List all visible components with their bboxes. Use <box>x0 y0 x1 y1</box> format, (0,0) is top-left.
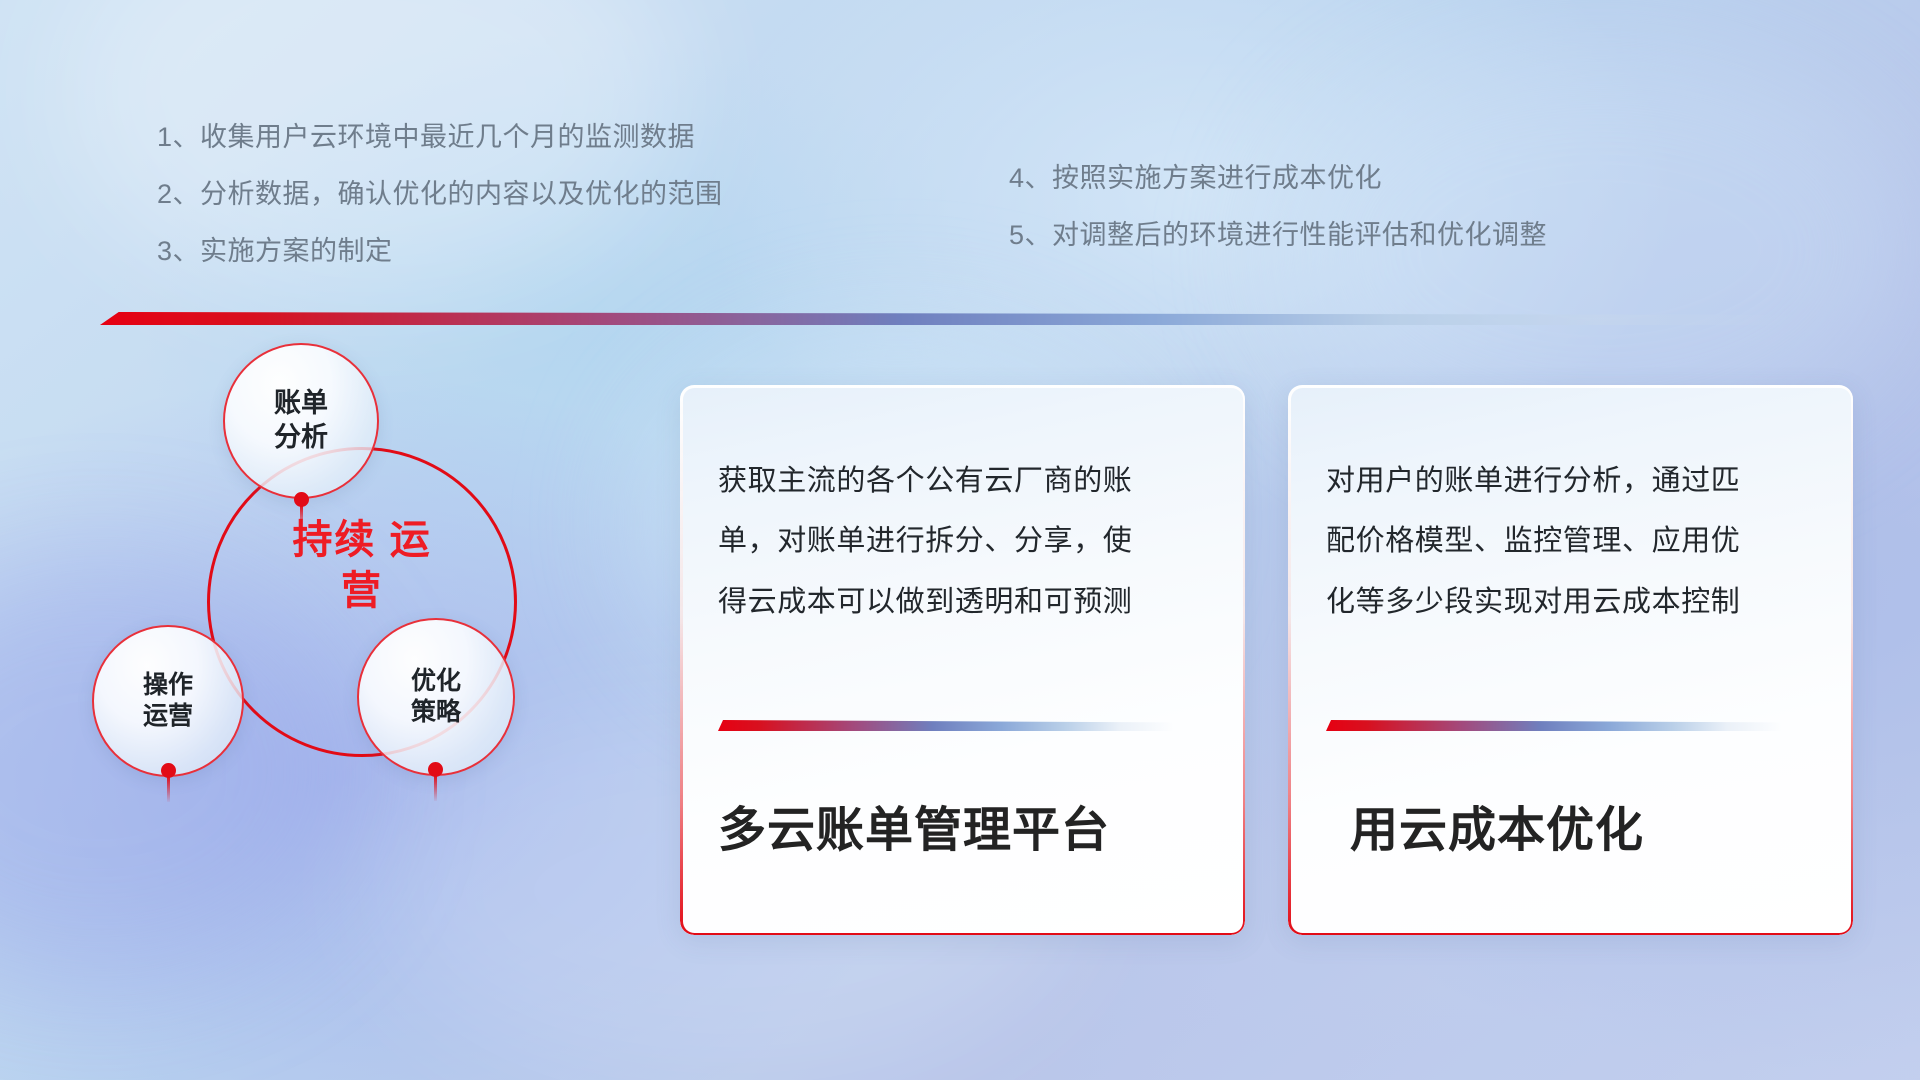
step-item-5: 5、对调整后的环境进行性能评估和优化调整 <box>1009 222 1547 249</box>
info-card-2-divider <box>1326 720 1782 731</box>
diagram-center-line-1: 持续 <box>292 518 376 562</box>
diagram-node-top-line-1: 账单 <box>274 387 328 421</box>
steps-list-right: 4、按照实施方案进行成本优化 5、对调整后的环境进行性能评估和优化调整 <box>1009 165 1547 279</box>
info-card-1-divider-bar <box>718 720 1174 731</box>
section-divider-bar <box>100 312 1800 325</box>
info-card-1-line-2: 单，对账单进行拆分、分享，使 <box>718 511 1215 571</box>
step-item-3: 3、实施方案的制定 <box>157 238 723 265</box>
diagram-node-stem-left <box>167 776 170 802</box>
diagram-node-stem-top <box>300 505 303 531</box>
diagram-node-stem-right <box>434 775 437 801</box>
section-divider <box>100 312 1800 325</box>
diagram-node-right-line-2: 策略 <box>411 697 461 728</box>
continuous-operation-diagram: 持续 运营 账单 分析 操作 运营 优化 策略 <box>95 355 655 955</box>
diagram-node-right-line-1: 优化 <box>411 666 461 697</box>
diagram-node-billing-analysis[interactable]: 账单 分析 <box>223 343 379 499</box>
info-card-2-divider-bar <box>1326 720 1782 731</box>
info-card-2-line-2: 配价格模型、监控管理、应用优 <box>1326 511 1823 571</box>
info-card-2-line-3: 化等多少段实现对用云成本控制 <box>1326 572 1823 632</box>
diagram-node-left-line-1: 操作 <box>143 670 193 701</box>
info-card-2-line-1: 对用户的账单进行分析，通过匹 <box>1326 451 1823 511</box>
diagram-node-operations[interactable]: 操作 运营 <box>92 625 244 777</box>
info-card-2-title: 用云成本优化 <box>1350 790 1644 860</box>
info-card-1-divider <box>718 720 1174 731</box>
slide-canvas: 1、收集用户云环境中最近几个月的监测数据 2、分析数据，确认优化的内容以及优化的… <box>0 0 1920 1080</box>
info-card-cloud-cost-optimization[interactable]: 对用户的账单进行分析，通过匹 配价格模型、监控管理、应用优 化等多少段实现对用云… <box>1288 385 1853 935</box>
info-card-2-body: 对用户的账单进行分析，通过匹 配价格模型、监控管理、应用优 化等多少段实现对用云… <box>1326 451 1823 632</box>
diagram-node-left-line-2: 运营 <box>143 701 193 732</box>
steps-list-left: 1、收集用户云环境中最近几个月的监测数据 2、分析数据，确认优化的内容以及优化的… <box>157 124 723 295</box>
info-card-1-title: 多云账单管理平台 <box>718 790 1110 860</box>
info-card-1-line-3: 得云成本可以做到透明和可预测 <box>718 572 1215 632</box>
info-card-1-line-1: 获取主流的各个公有云厂商的账 <box>718 451 1215 511</box>
info-card-multicloud-billing[interactable]: 获取主流的各个公有云厂商的账 单，对账单进行拆分、分享，使 得云成本可以做到透明… <box>680 385 1245 935</box>
step-item-4: 4、按照实施方案进行成本优化 <box>1009 165 1547 192</box>
diagram-node-top-line-2: 分析 <box>274 421 328 455</box>
step-item-1: 1、收集用户云环境中最近几个月的监测数据 <box>157 124 723 151</box>
step-item-2: 2、分析数据，确认优化的内容以及优化的范围 <box>157 181 723 208</box>
info-card-1-body: 获取主流的各个公有云厂商的账 单，对账单进行拆分、分享，使 得云成本可以做到透明… <box>718 451 1215 632</box>
diagram-node-optimization-strategy[interactable]: 优化 策略 <box>357 618 515 776</box>
